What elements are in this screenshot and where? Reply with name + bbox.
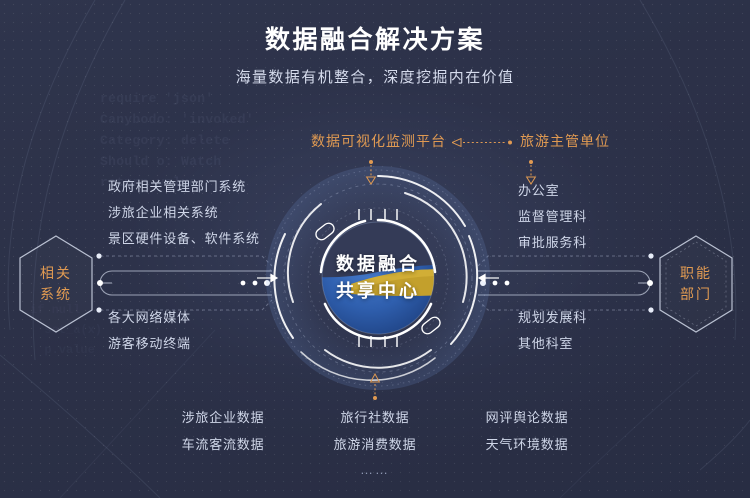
list-related-systems-bottom: 各大网络媒体 游客移动终端 <box>108 305 191 357</box>
header: 数据融合解决方案 海量数据有机整合，深度挖掘内在价值 <box>0 24 750 87</box>
arrow-authority-to-platform <box>452 138 514 147</box>
central-hub[interactable]: 数据融合 共享中心 <box>255 162 501 394</box>
bottom-row-1: 涉旅企业数据 旅行社数据 网评舆论数据 <box>171 404 579 431</box>
label-visualization-platform: 数据可视化监测平台 <box>311 131 446 151</box>
hexagon-functional-departments[interactable]: 职能 部门 <box>654 232 738 336</box>
list-departments-top: 办公室 监督管理科 审批服务科 <box>518 178 587 256</box>
infographic-canvas: require 'json' Canybodo: 'invoked' Categ… <box>0 0 750 498</box>
data-item: 旅行社数据 <box>323 404 427 431</box>
connector-data-up <box>369 372 381 400</box>
top-label-group: 数据可视化监测平台 旅游主管单位 <box>0 131 750 153</box>
list-item: 政府相关管理部门系统 <box>108 174 260 200</box>
hexagon-left-label: 相关 系统 <box>14 232 98 336</box>
page-title: 数据融合解决方案 <box>0 24 750 56</box>
list-item: 游客移动终端 <box>108 331 191 357</box>
data-item: 涉旅企业数据 <box>171 404 275 431</box>
list-related-systems-top: 政府相关管理部门系统 涉旅企业相关系统 景区硬件设备、软件系统 <box>108 174 260 252</box>
hexagon-related-systems[interactable]: 相关 系统 <box>14 232 98 336</box>
list-item: 涉旅企业相关系统 <box>108 200 260 226</box>
list-item: 其他科室 <box>518 331 587 357</box>
connector-platform-down <box>365 160 377 186</box>
label-tourism-authority: 旅游主管单位 <box>520 131 610 151</box>
list-item: 办公室 <box>518 178 587 204</box>
list-item: 规划发展科 <box>518 305 587 331</box>
hexagon-left-line2: 系统 <box>40 284 72 305</box>
hexagon-left-line1: 相关 <box>40 263 72 284</box>
list-item: 各大网络媒体 <box>108 305 191 331</box>
data-item: 网评舆论数据 <box>475 404 579 431</box>
list-item: 监督管理科 <box>518 204 587 230</box>
data-item: 天气环境数据 <box>475 431 579 458</box>
hexagon-right-line1: 职能 <box>680 263 712 284</box>
data-ellipsis: …… <box>360 462 390 477</box>
list-item: 审批服务科 <box>518 230 587 256</box>
page-subtitle: 海量数据有机整合，深度挖掘内在价值 <box>0 66 750 87</box>
hexagon-right-label: 职能 部门 <box>654 232 738 336</box>
hub-rings-graphic <box>255 162 501 394</box>
list-departments-bottom: 规划发展科 其他科室 <box>518 305 587 357</box>
hexagon-right-line2: 部门 <box>680 284 712 305</box>
data-item: 车流客流数据 <box>171 431 275 458</box>
data-item: 旅游消费数据 <box>323 431 427 458</box>
bottom-data-grid: 涉旅企业数据 旅行社数据 网评舆论数据 车流客流数据 旅游消费数据 天气环境数据… <box>0 404 750 477</box>
bottom-row-2: 车流客流数据 旅游消费数据 天气环境数据 <box>171 431 579 458</box>
list-item: 景区硬件设备、软件系统 <box>108 226 260 252</box>
